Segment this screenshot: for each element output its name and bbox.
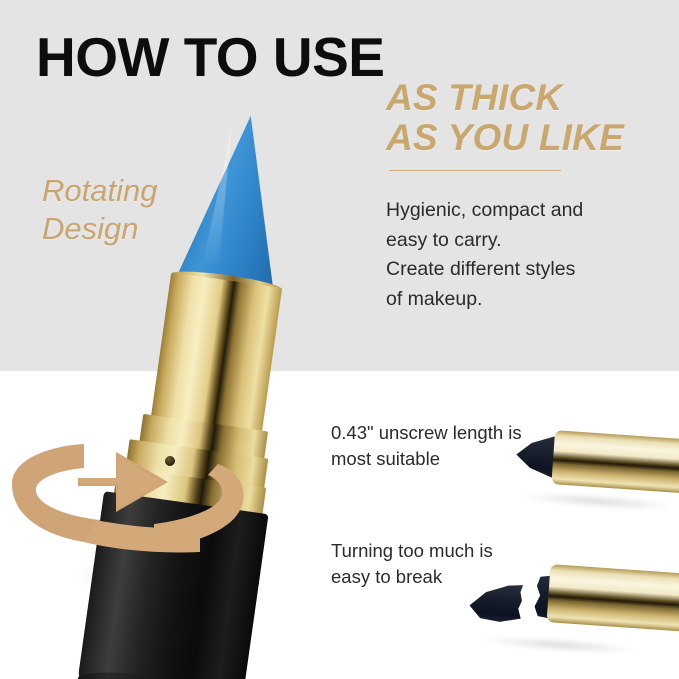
headline-as-thick-as-you-like: AS THICK AS YOU LIKE (386, 78, 624, 157)
feature-line-1: Hygienic, compact and (386, 196, 658, 226)
rotation-arrow-icon (4, 420, 256, 570)
broken-tip-fragment-icon (468, 581, 523, 625)
gold-mini-barrel (547, 564, 679, 632)
how-to-use-infographic: HOW TO USE AS THICK AS YOU LIKE Hygienic… (0, 0, 679, 679)
page-title: HOW TO USE (36, 30, 384, 85)
eyeliner-intact-tip-illustration (505, 415, 679, 509)
feature-line-4: of makeup. (386, 285, 658, 315)
gold-barrel (150, 272, 282, 438)
gold-divider-rule (389, 170, 561, 171)
feature-description: Hygienic, compact and easy to carry. Cre… (386, 196, 658, 315)
feature-line-3: Create different styles (386, 255, 658, 285)
feature-line-2: easy to carry. (386, 226, 658, 256)
headline-line-2: AS YOU LIKE (386, 118, 624, 158)
blue-tip-icon (177, 109, 297, 299)
gold-mini-barrel (551, 430, 679, 493)
eyeliner-broken-tip-illustration (467, 549, 679, 656)
headline-line-1: AS THICK (386, 77, 562, 118)
